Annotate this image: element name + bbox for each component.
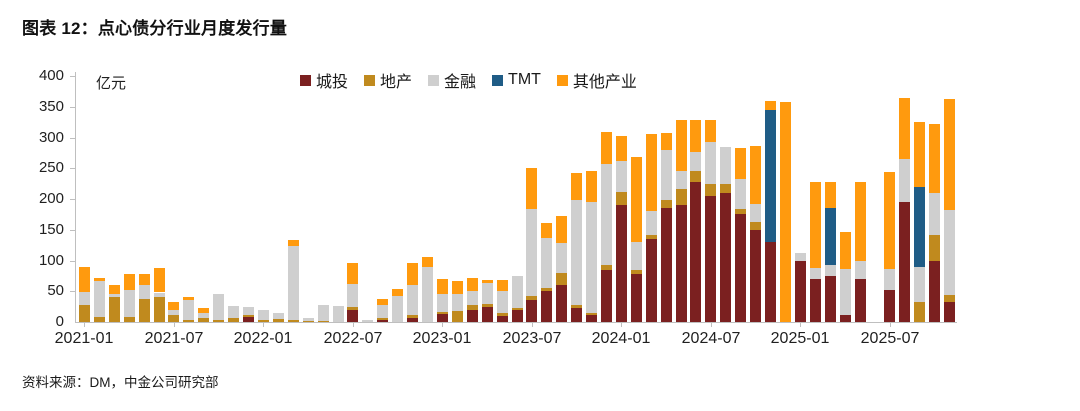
bar-segment [661,150,672,199]
x-axis-tick-label: 2021-07 [145,330,204,348]
bar-column[interactable] [168,76,179,322]
bar-segment [183,297,194,300]
y-axis-tick-mark [70,168,76,169]
bar-segment [765,101,776,110]
bar-segment [601,265,612,269]
bar-segment [810,182,821,268]
bar-segment [571,305,582,309]
bar-segment [750,146,761,204]
bar-column[interactable] [288,76,299,322]
bar-segment [899,98,910,160]
bar-segment [631,270,642,274]
bar-segment [690,120,701,152]
bar-segment [750,230,761,322]
y-axis-tick-label: 400 [0,68,64,83]
bar-column[interactable] [541,76,552,322]
bar-segment [452,294,463,311]
bar-segment [288,240,299,246]
bar-segment [452,311,463,322]
bar-column[interactable] [914,76,925,322]
bar-column[interactable] [512,76,523,322]
x-axis-tick-mark [800,322,801,327]
bar-segment [914,302,925,322]
bar-segment [482,283,493,305]
bar-segment [347,284,358,307]
bar-column[interactable] [810,76,821,322]
bar-segment [392,289,403,296]
bar-segment [497,313,508,315]
bar-segment [347,263,358,284]
bar-segment [884,290,895,322]
bar-segment [198,308,209,313]
bar-segment [303,318,314,320]
bar-segment [616,161,627,192]
x-axis-tick-label: 2024-07 [682,330,741,348]
bar-column[interactable] [884,76,895,322]
bar-segment [333,306,344,322]
bar-segment [79,305,90,322]
bar-column[interactable] [467,76,478,322]
bar-segment [288,246,299,320]
bar-segment [347,310,358,322]
bar-segment [810,279,821,322]
bar-segment [661,133,672,150]
bar-segment [407,263,418,285]
bar-column[interactable] [616,76,627,322]
x-axis-tick-label: 2023-01 [413,330,472,348]
bar-segment [944,302,955,322]
bar-column[interactable] [586,76,597,322]
bar-segment [154,297,165,322]
bar-segment [556,273,567,285]
bar-segment [377,299,388,305]
bar-segment [646,239,657,322]
bar-segment [79,267,90,293]
bar-segment [720,193,731,322]
bar-segment [526,168,537,210]
bar-column[interactable] [318,76,329,322]
bar-column[interactable] [571,76,582,322]
bar-column[interactable] [482,76,493,322]
bar-segment [571,173,582,201]
bar-segment [228,306,239,318]
bar-column[interactable] [765,76,776,322]
bar-segment [154,268,165,293]
bar-column[interactable] [183,76,194,322]
bar-segment [213,294,224,320]
bar-segment [661,208,672,322]
bar-column[interactable] [377,76,388,322]
bar-column[interactable] [497,76,508,322]
x-axis-tick-label: 2021-01 [55,330,114,348]
bar-segment [586,315,597,322]
bar-column[interactable] [243,76,254,322]
bar-segment [631,242,642,270]
bar-column[interactable] [109,76,120,322]
bar-segment [526,300,537,322]
bar-segment [750,222,761,229]
bar-column[interactable] [646,76,657,322]
bar-segment [884,172,895,269]
bar-segment [616,192,627,206]
bar-column[interactable] [780,76,791,322]
bar-column[interactable] [258,76,269,322]
x-axis-tick-mark [174,322,175,327]
bar-segment [482,307,493,322]
bar-segment [139,274,150,285]
bar-segment [855,261,866,279]
bar-column[interactable] [556,76,567,322]
bar-segment [526,296,537,301]
bar-segment [437,294,448,311]
x-axis-tick-label: 2024-01 [592,330,651,348]
bar-segment [705,120,716,142]
bar-segment [452,281,463,293]
x-axis-ticks [0,322,1080,330]
y-axis-tick-label: 100 [0,253,64,268]
bar-segment [929,235,940,261]
bar-segment [541,238,552,287]
bar-segment [586,313,597,315]
bar-segment [631,157,642,242]
bar-column[interactable] [840,76,851,322]
x-axis-tick-mark [711,322,712,327]
bar-segment [437,279,448,294]
y-axis-tick-label: 250 [0,160,64,175]
y-axis-tick-mark [70,76,76,77]
bar-segment [735,179,746,210]
bar-segment [139,299,150,322]
bar-segment [840,315,851,322]
bar-segment [676,120,687,170]
bar-segment [929,193,940,235]
bar-column[interactable] [452,76,463,322]
bar-column[interactable] [407,76,418,322]
bar-column[interactable] [735,76,746,322]
bar-segment [720,184,731,193]
bar-segment [601,132,612,164]
y-axis-tick-label: 50 [0,283,64,298]
bar-segment [884,269,895,291]
bar-segment [422,257,433,267]
bar-column[interactable] [601,76,612,322]
bar-segment [661,200,672,209]
bar-segment [601,164,612,265]
bar-segment [765,110,776,242]
y-axis-tick-label: 150 [0,222,64,237]
bar-segment [646,134,657,211]
bar-segment [646,235,657,239]
bar-column[interactable] [333,76,344,322]
chart-page: 图表 12：点心债分行业月度发行量 0501001502002503003504… [0,0,1080,411]
bar-column[interactable] [929,76,940,322]
bar-segment [437,312,448,314]
bar-segment [914,187,925,267]
x-axis-tick-label: 2022-01 [234,330,293,348]
bar-segment [124,290,135,317]
bar-segment [139,285,150,299]
x-axis-tick-label: 2025-01 [771,330,830,348]
bar-segment [467,305,478,310]
bar-segment [168,302,179,309]
bar-segment [541,291,552,322]
bar-segment [825,265,836,276]
bar-segment [765,242,776,322]
x-axis-labels: 2021-012021-072022-012022-072023-012023-… [0,330,1080,356]
bar-segment [676,189,687,205]
bar-segment [690,171,701,182]
x-axis-tick-label: 2022-07 [324,330,383,348]
bar-segment [392,296,403,322]
bar-segment [855,182,866,261]
bar-segment [168,315,179,322]
bar-segment [735,148,746,179]
bar-segment [541,223,552,238]
bar-segment [526,209,537,295]
bar-segment [154,293,165,298]
bar-column[interactable] [705,76,716,322]
bar-column[interactable] [899,76,910,322]
bar-segment [497,280,508,291]
bar-column[interactable] [139,76,150,322]
y-axis-tick-label: 350 [0,99,64,114]
bar-column[interactable] [855,76,866,322]
bar-column[interactable] [750,76,761,322]
bar-segment [482,280,493,282]
bar-segment [631,274,642,322]
bar-column[interactable] [124,76,135,322]
y-axis-tick-mark [70,199,76,200]
bar-column[interactable] [944,76,955,322]
bar-column[interactable] [198,76,209,322]
bar-segment [676,205,687,322]
bar-segment [407,285,418,316]
bar-segment [825,276,836,322]
source-note: 资料来源：DM，中金公司研究部 [22,371,219,391]
bar-column[interactable] [795,76,806,322]
bar-segment [914,267,925,303]
page-title: 图表 12：点心债分行业月度发行量 [22,14,287,39]
bar-column[interactable] [676,76,687,322]
bar-segment [109,297,120,322]
y-axis-tick-mark [70,230,76,231]
bar-segment [467,278,478,292]
bar-segment [705,196,716,322]
bar-column[interactable] [94,76,105,322]
bar-segment [601,270,612,322]
bar-column[interactable] [720,76,731,322]
bar-segment [810,268,821,279]
bar-segment [795,261,806,323]
bar-segment [720,147,731,184]
bar-segment [79,292,90,304]
bar-segment [705,142,716,184]
bar-segment [541,288,552,292]
bar-segment [571,308,582,322]
y-axis-tick-mark [70,291,76,292]
bar-segment [124,274,135,290]
bar-segment [168,310,179,315]
bar-segment [944,295,955,302]
bar-segment [825,208,836,265]
bar-segment [571,200,582,305]
y-axis-tick-mark [70,138,76,139]
bar-segment [899,202,910,322]
bar-segment [929,261,940,323]
y-axis-tick-mark [70,107,76,108]
y-axis-tick-label: 300 [0,130,64,145]
x-axis-tick-mark [263,322,264,327]
bar-segment [198,313,209,318]
bar-column[interactable] [347,76,358,322]
bar-segment [273,313,284,319]
bar-column[interactable] [422,76,433,322]
x-axis-tick-mark [353,322,354,327]
bar-column[interactable] [631,76,642,322]
bar-segment [750,204,761,222]
bar-segment [377,318,388,320]
bar-segment [705,184,716,196]
bar-segment [690,182,701,322]
bar-segment [944,99,955,210]
bar-segment [586,202,597,313]
bar-segment [586,171,597,202]
bar-column[interactable] [825,76,836,322]
bar-segment [94,281,105,317]
bar-segment [735,214,746,322]
bar-segment [899,159,910,202]
bar-segment [616,136,627,161]
bar-segment [437,314,448,322]
x-axis-tick-mark [621,322,622,327]
bar-column[interactable] [526,76,537,322]
plot-area [76,76,956,322]
bar-segment [616,205,627,322]
bar-segment [407,315,418,317]
bar-column[interactable] [228,76,239,322]
bar-segment [109,294,120,297]
bar-segment [243,315,254,317]
bar-column[interactable] [392,76,403,322]
bar-segment [690,152,701,170]
bar-segment [94,278,105,282]
bar-column[interactable] [362,76,373,322]
bar-column[interactable] [869,76,880,322]
bar-segment [243,307,254,314]
bar-segment [318,305,329,321]
bar-segment [825,182,836,208]
bar-column[interactable] [690,76,701,322]
bar-segment [735,209,746,214]
y-axis-tick-mark [70,261,76,262]
bar-segment [377,305,388,319]
bar-segment [795,253,806,260]
chart-area: 050100150200250300350400 亿元 城投地产金融TMT其他产… [0,56,1080,356]
bar-segment [497,291,508,313]
bar-segment [183,300,194,320]
bar-segment [929,124,940,193]
bar-segment [556,243,567,273]
x-axis-tick-mark [532,322,533,327]
bar-column[interactable] [661,76,672,322]
bar-segment [109,285,120,295]
bar-segment [944,210,955,295]
bar-segment [556,285,567,322]
bar-segment [914,122,925,187]
bar-segment [840,232,851,269]
x-axis-tick-mark [84,322,85,327]
bar-segment [512,308,523,310]
bar-segment [840,269,851,315]
bar-column[interactable] [79,76,90,322]
bar-segment [258,310,269,320]
bar-segment [855,279,866,322]
bar-segment [676,171,687,189]
x-axis-tick-mark [890,322,891,327]
bar-segment [347,307,358,309]
bar-segment [467,310,478,322]
y-axis-tick-label: 200 [0,191,64,206]
bar-segment [422,267,433,322]
x-axis-tick-label: 2025-07 [861,330,920,348]
bar-segment [482,304,493,306]
bar-segment [512,310,523,322]
bar-segment [467,291,478,305]
bar-column[interactable] [213,76,224,322]
bar-segment [556,216,567,244]
bar-segment [780,102,791,322]
bar-column[interactable] [303,76,314,322]
bar-column[interactable] [437,76,448,322]
bar-segment [646,211,657,236]
x-axis-tick-label: 2023-07 [503,330,562,348]
x-axis-tick-mark [442,322,443,327]
bar-segment [512,276,523,308]
bar-column[interactable] [273,76,284,322]
y-axis-labels: 050100150200250300350400 [0,56,68,356]
bar-column[interactable] [154,76,165,322]
